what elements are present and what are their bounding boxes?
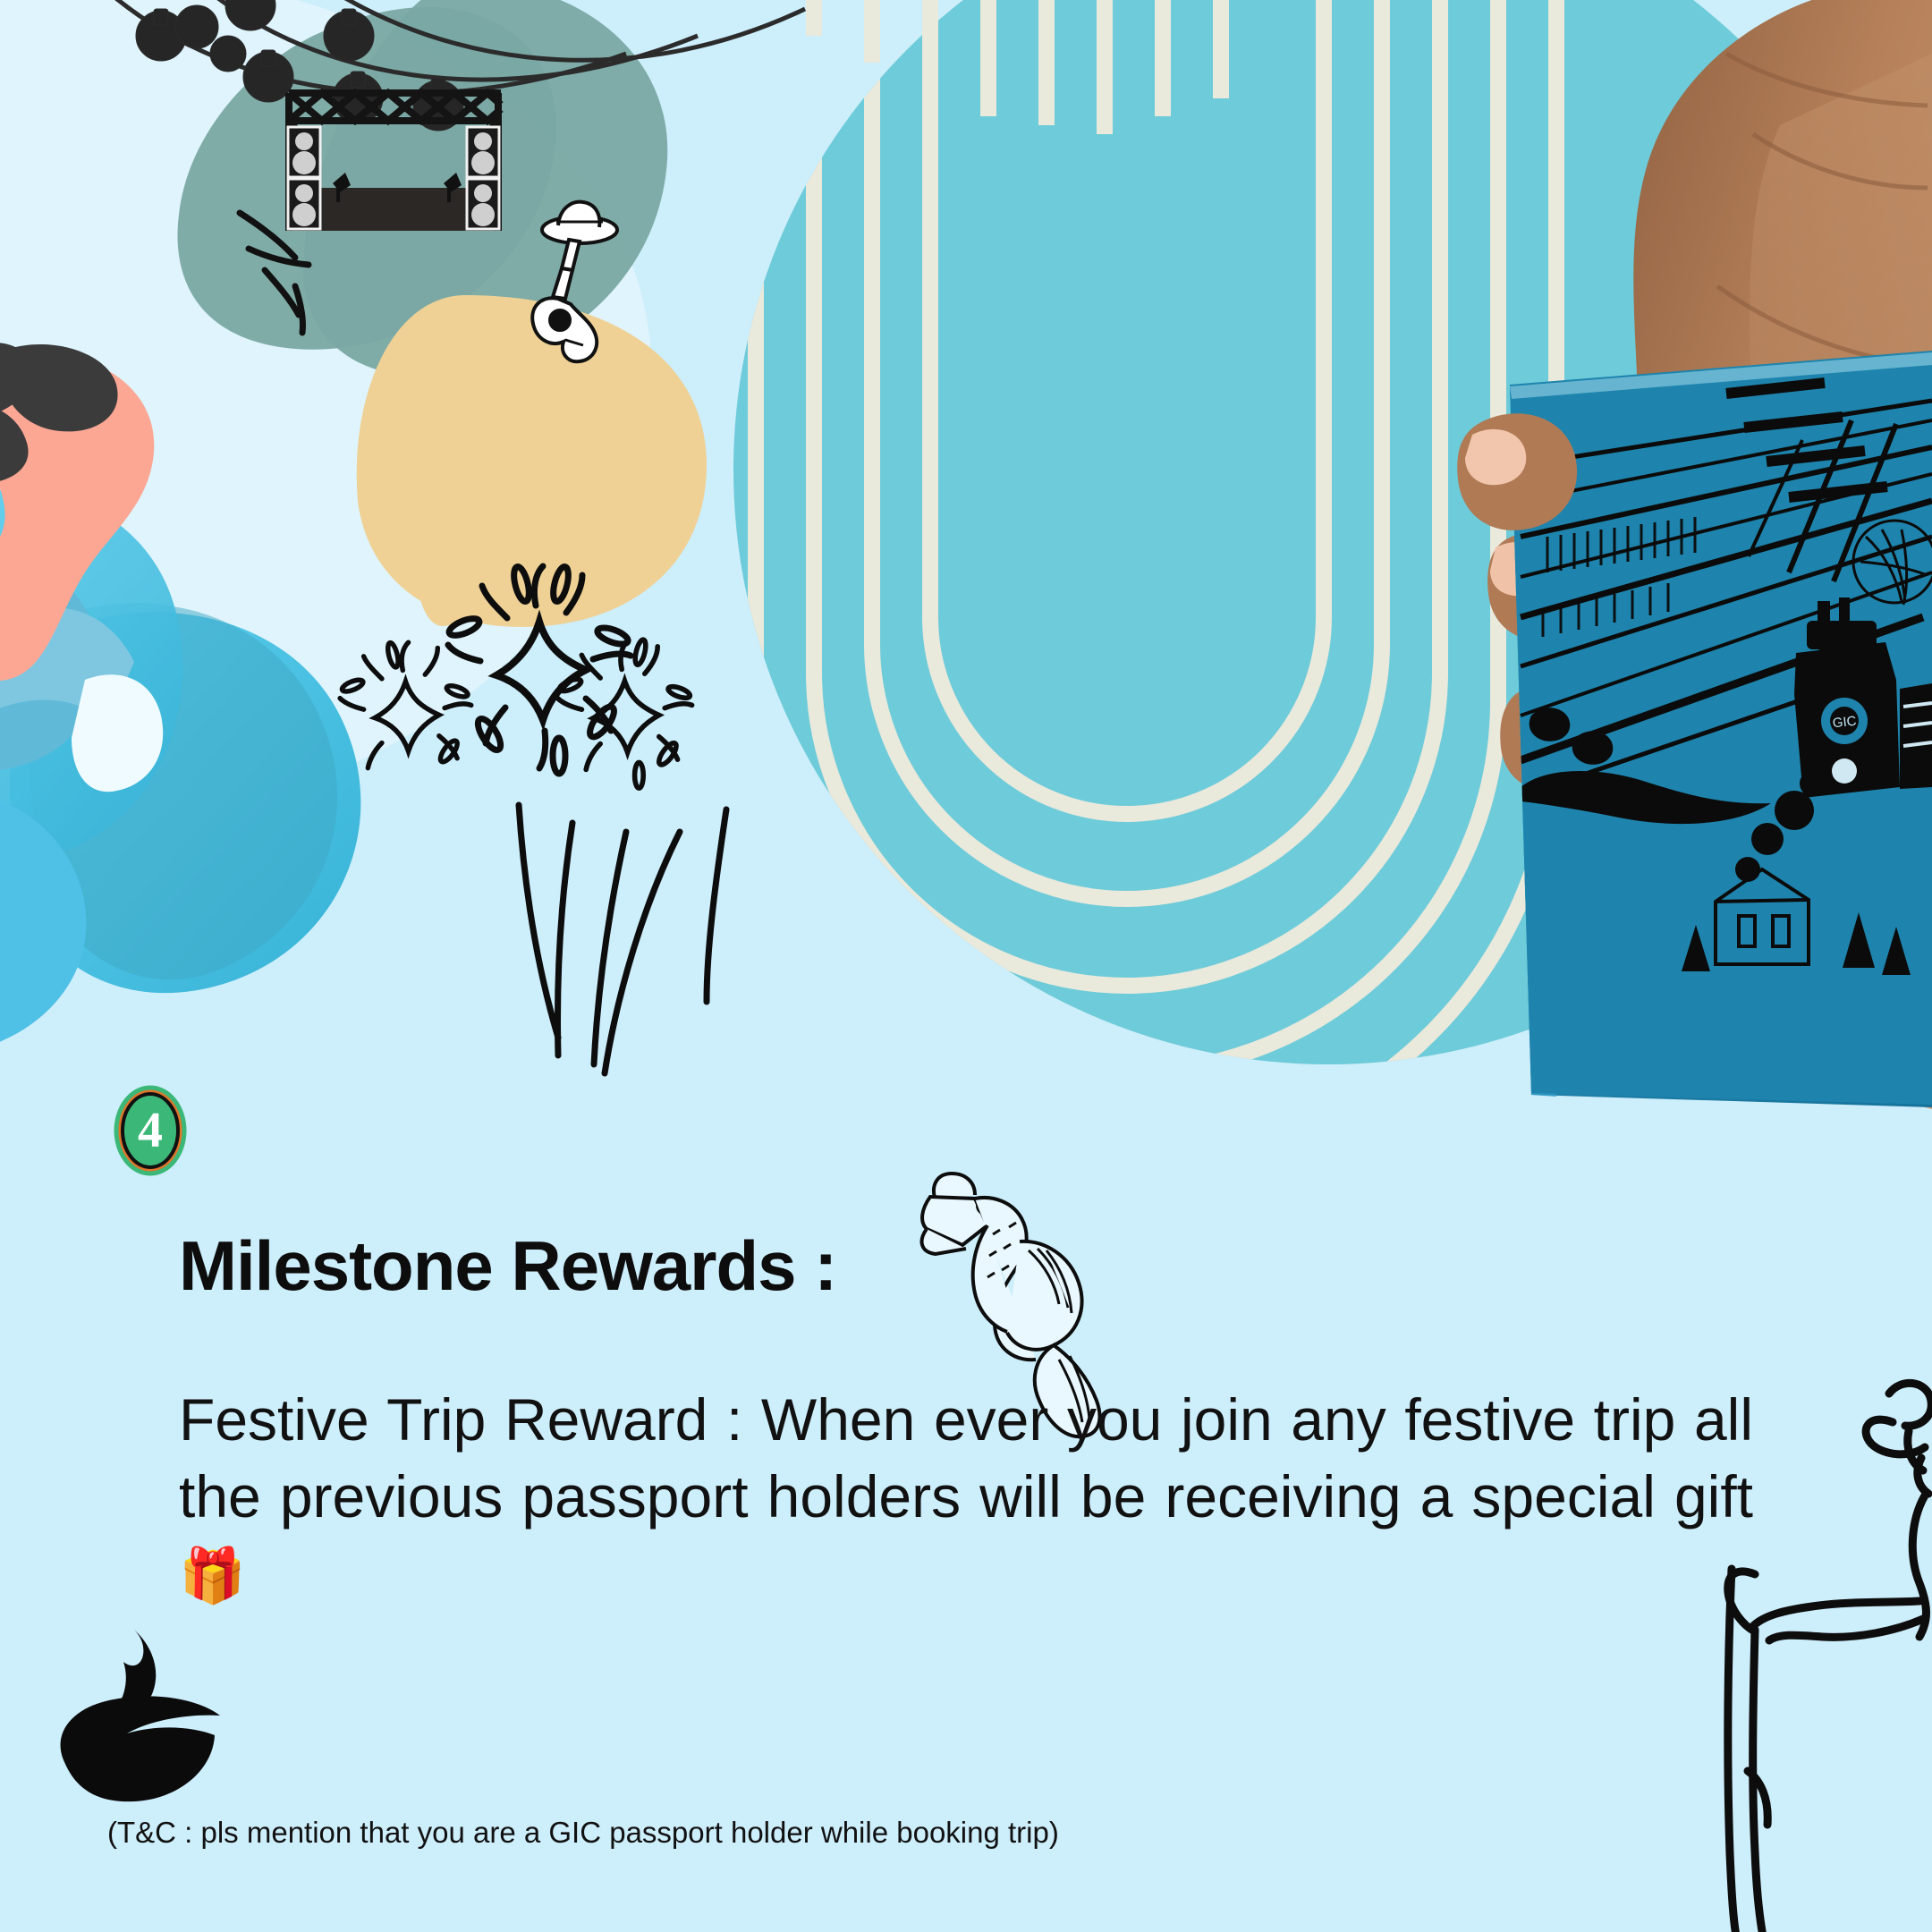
step-number-label: 4 <box>106 1082 195 1179</box>
index-finger-over-booklet <box>1457 413 1577 530</box>
terms-and-conditions: (T&C : pls mention that you are a GIC pa… <box>107 1816 1059 1850</box>
svg-text:GIC: GIC <box>1832 714 1857 732</box>
reward-description: Festive Trip Reward : When ever you join… <box>179 1382 1753 1612</box>
background-illustration: GIC <box>0 0 1932 1932</box>
poster-canvas: GIC <box>0 0 1932 1932</box>
reward-description-text: Festive Trip Reward : When ever you join… <box>179 1386 1753 1529</box>
step-number-badge: 4 <box>106 1082 195 1179</box>
gift-emoji: 🎁 <box>179 1546 246 1606</box>
page-title: Milestone Rewards : <box>179 1225 836 1307</box>
